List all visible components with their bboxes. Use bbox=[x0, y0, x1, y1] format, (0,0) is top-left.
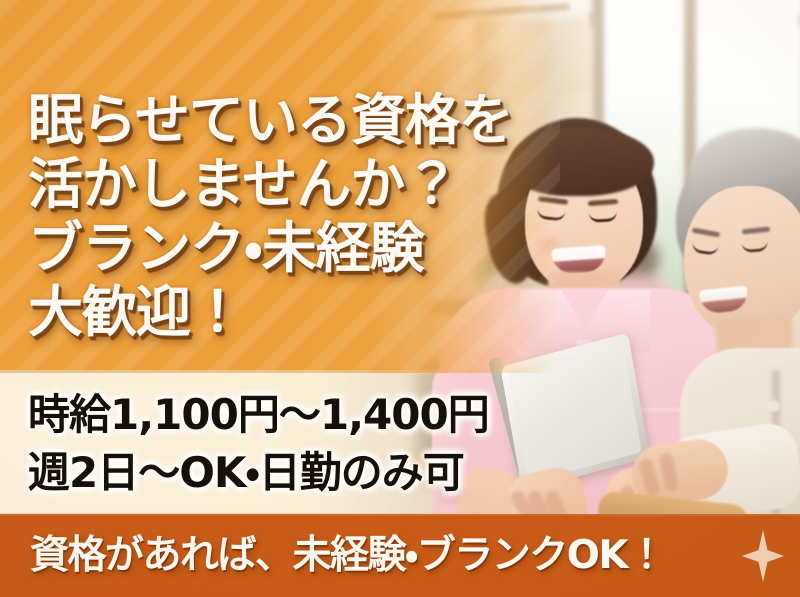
bottom-callout-bar: 資格があれば、未経験・ブランクOK！ bbox=[0, 514, 800, 597]
bottom-callout-text: 資格があれば、未経験・ブランクOK！ bbox=[30, 534, 665, 578]
bottom-bar-edge bbox=[0, 514, 800, 516]
headline-line-1: 眠らせている資格を bbox=[28, 88, 498, 152]
job-ad-banner: 眠らせている資格を 活かしませんか？ ブランク・未経験 大歓迎！ 時給1,100… bbox=[0, 0, 800, 597]
headline-line-4: 大歓迎！ bbox=[28, 280, 498, 344]
bottom-text-wrap: 資格があれば、未経験・ブランクOK！ bbox=[30, 534, 665, 578]
condition-wage: 時給1,100円〜1,400円 bbox=[28, 386, 468, 444]
conditions-block: 時給1,100円〜1,400円 週2日〜OK・日勤のみ可 bbox=[28, 386, 468, 502]
headline-block: 眠らせている資格を 活かしませんか？ ブランク・未経験 大歓迎！ bbox=[28, 88, 498, 344]
elderly-woman-face bbox=[684, 186, 800, 338]
cardigan-button bbox=[768, 400, 780, 412]
headline-line-2: 活かしませんか？ bbox=[28, 152, 498, 216]
condition-schedule: 週2日〜OK・日勤のみ可 bbox=[28, 444, 468, 502]
headline-line-3: ブランク・未経験 bbox=[28, 216, 498, 280]
sparkle-icon bbox=[742, 530, 784, 582]
